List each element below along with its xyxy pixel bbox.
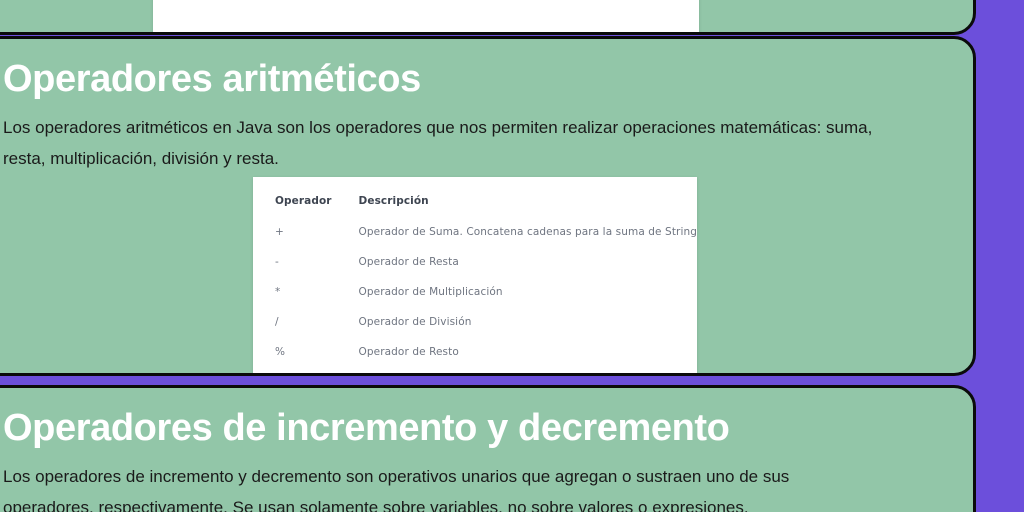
cell-operator: + <box>253 217 359 247</box>
cell-description: Operador de División <box>359 307 697 337</box>
column-header-operador: Operador <box>253 191 359 217</box>
cell-operator: - <box>253 247 359 277</box>
body-text-aritmeticos: Los operadores aritméticos en Java son l… <box>3 112 873 174</box>
cell-operator: / <box>253 307 359 337</box>
table-row: * Operador de Multiplicación <box>253 277 697 307</box>
operators-table-body: + Operador de Suma. Concatena cadenas pa… <box>253 217 697 367</box>
cell-description: Operador de Resto <box>359 337 697 367</box>
cell-description: Operador de Suma. Concatena cadenas para… <box>359 217 697 247</box>
table-row: / Operador de División <box>253 307 697 337</box>
page-root: Operadores aritméticos Los operadores ar… <box>0 0 1024 512</box>
table-row: - Operador de Resta <box>253 247 697 277</box>
cell-description: Operador de Resta <box>359 247 697 277</box>
card-operadores-incremento-decremento: Operadores de incremento y decremento Lo… <box>0 385 976 512</box>
cell-operator: * <box>253 277 359 307</box>
table-panel-operadores: Operador Descripción + Operador de Suma.… <box>253 177 697 375</box>
table-panel-above <box>153 0 699 35</box>
operators-table-head: Operador Descripción <box>253 191 697 217</box>
cell-operator: % <box>253 337 359 367</box>
card-operadores-aritmeticos: Operadores aritméticos Los operadores ar… <box>0 36 976 376</box>
body-text-incremento-decremento: Los operadores de incremento y decrement… <box>3 461 873 512</box>
cell-description: Operador de Multiplicación <box>359 277 697 307</box>
table-header-row: Operador Descripción <box>253 191 697 217</box>
page-title-incremento-decremento: Operadores de incremento y decremento <box>3 406 729 450</box>
page-title-aritmeticos: Operadores aritméticos <box>3 57 421 101</box>
card-partial-above <box>0 0 976 35</box>
column-header-descripcion: Descripción <box>359 191 697 217</box>
operators-table: Operador Descripción + Operador de Suma.… <box>253 191 697 367</box>
table-row: + Operador de Suma. Concatena cadenas pa… <box>253 217 697 247</box>
table-row: % Operador de Resto <box>253 337 697 367</box>
